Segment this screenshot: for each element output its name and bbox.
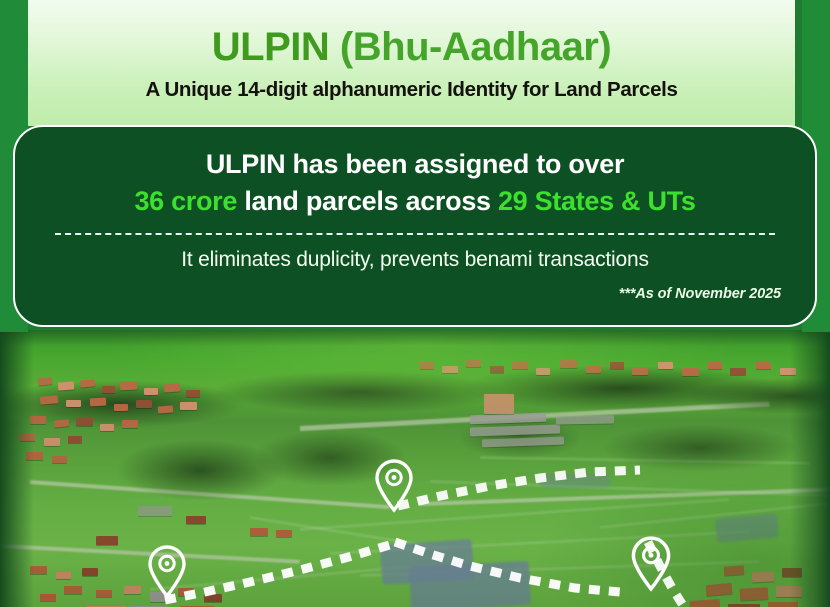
title-paren-text: (Bhu-Aadhaar) xyxy=(340,25,611,69)
page-title: ULPIN (Bhu-Aadhaar) xyxy=(212,27,611,67)
title-main-text: ULPIN xyxy=(212,25,340,69)
parcel-boundary-overlay xyxy=(0,330,830,607)
card-divider xyxy=(55,233,775,235)
card-headline: ULPIN has been assigned to over xyxy=(41,149,789,180)
infographic-poster: ULPIN (Bhu-Aadhaar) A Unique 14-digit al… xyxy=(0,0,830,607)
map-pin-left-icon[interactable] xyxy=(147,544,187,600)
stat-parcels-value: 36 crore xyxy=(134,186,237,216)
stat-states-value: 29 States & UTs xyxy=(498,186,696,216)
card-statistic-line: 36 crore land parcels across 29 States &… xyxy=(41,185,789,217)
card-benefit-text: It eliminates duplicity, prevents benami… xyxy=(41,248,789,272)
stat-parcels-label: land parcels across xyxy=(237,186,498,216)
aerial-photo xyxy=(0,330,830,607)
page-subtitle: A Unique 14-digit alphanumeric Identity … xyxy=(145,78,677,102)
card-footnote: ***As of November 2025 xyxy=(41,286,789,302)
map-pin-center-icon[interactable] xyxy=(374,458,414,514)
header-banner: ULPIN (Bhu-Aadhaar) A Unique 14-digit al… xyxy=(28,0,795,126)
map-pin-right-icon[interactable] xyxy=(630,535,672,593)
statistics-card: ULPIN has been assigned to over 36 crore… xyxy=(13,125,817,327)
